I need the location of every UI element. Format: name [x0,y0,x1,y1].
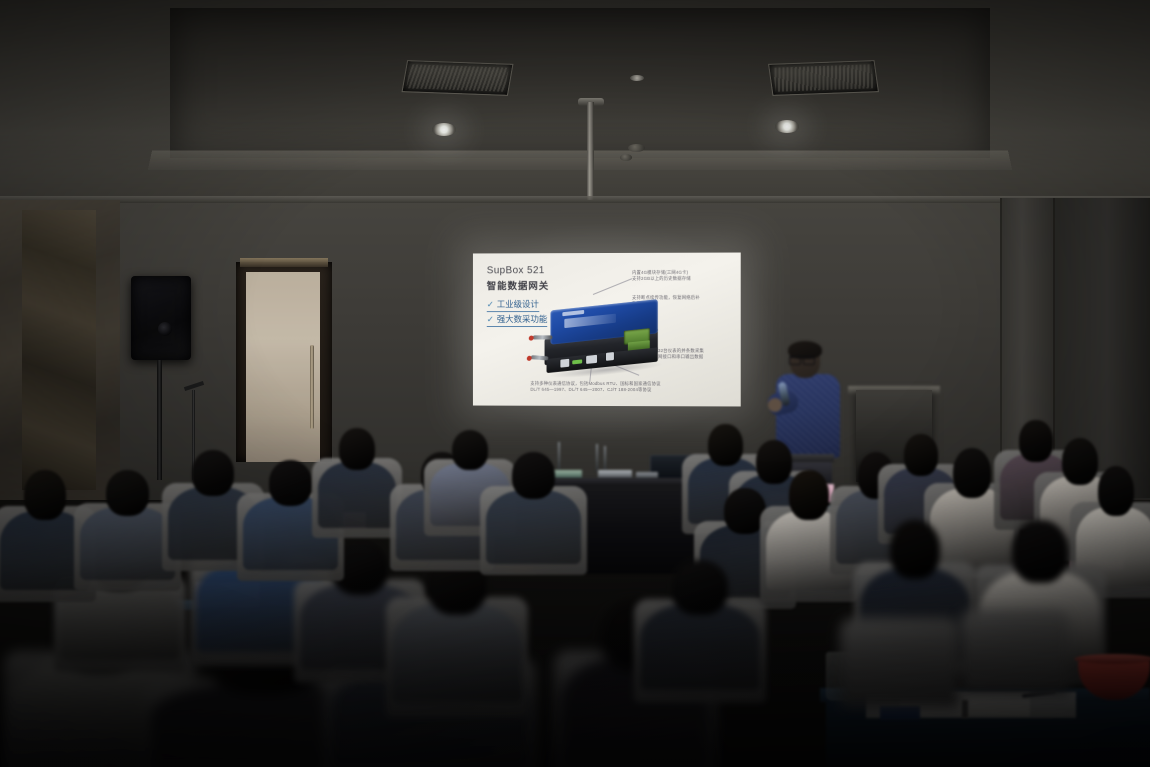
product-device-image [545,298,664,383]
slide-bullet-1-label: 工业级设计 [497,299,539,309]
slide-bullet-1: ✓工业级设计 [487,298,539,312]
audience-head [452,430,489,470]
chair [960,610,1070,694]
slide-bullet-2-label: 强大数采功能 [497,314,548,324]
slide-bullet-2: ✓强大数采功能 [487,313,548,327]
hvac-vent-right [768,60,879,96]
audience-member [486,452,581,564]
audience-head [1098,466,1135,516]
presenter-hand [768,398,782,412]
audience-shoulders [486,490,581,564]
hvac-vent-left [402,60,514,96]
conference-room-photo: SupBox 521 智能数据网关 ✓工业级设计 ✓强大数采功能 内置4G模块存… [0,0,1150,767]
sprinkler-head-icon [630,75,644,81]
slide-subtitle: 智能数据网关 [487,278,549,292]
audience-shoulders [392,603,522,702]
audience-member [80,470,175,580]
bowl-rim [1074,654,1150,664]
device-logo [562,310,584,316]
check-icon: ✓ [487,299,494,309]
blue-card-on-table [880,706,920,720]
ceiling-downlight-right [775,120,799,133]
device-port [606,352,614,361]
notebook-spine [962,700,968,718]
audience-member [640,560,760,690]
ceiling-downlight-left [432,123,456,136]
callout-leader-line [593,278,632,295]
audience-head [269,460,313,506]
device-label-print [564,314,616,328]
wall-trim [0,196,1150,203]
audience-head [192,450,233,496]
audience-head [890,520,941,579]
speaker-driver-icon [158,322,172,336]
ceiling-rim-molding [148,150,1012,169]
av-antenna [596,444,598,472]
audience-shoulders [318,462,396,528]
audience-head [1012,520,1067,583]
device-port [560,359,569,368]
marble-wall-panel [22,210,96,490]
device-antenna [531,355,549,360]
speaker-stand [157,360,162,480]
audience-head [672,560,727,615]
audience-head [953,448,992,498]
device-port [586,355,597,364]
device-antenna-tip [527,356,532,362]
glasses-icon [789,356,815,363]
projection-screen: SupBox 521 智能数据网关 ✓工业级设计 ✓强大数采功能 内置4G模块存… [473,253,741,407]
audience-head [339,428,375,470]
audience-head [512,452,556,499]
slide-callout-top: 内置4G模块存储(三网4G卡) 支持2GB以上的历史数据存储 [632,270,729,283]
audience-shoulders [640,604,760,690]
audience-shoulders [80,507,175,580]
smoke-detector-icon [620,154,632,161]
audience-member [318,428,396,528]
door-transom [240,258,328,267]
presentation-slide: SupBox 521 智能数据网关 ✓工业级设计 ✓强大数采功能 内置4G模块存… [473,253,741,407]
device-antenna [533,335,553,339]
slide-callout-bottom: 支持多种仪表通信协议，包括Modbus RTU、国标和国家通信协议 DL/T 6… [530,381,710,394]
audience-head [24,470,65,520]
check-icon: ✓ [487,314,494,324]
av-antenna [604,446,606,472]
door-panel[interactable] [246,272,320,462]
audience-head [789,470,829,520]
chair [840,618,960,708]
smoke-detector-icon [628,144,645,152]
pa-speaker [131,276,191,360]
slide-title: SupBox 521 [487,265,545,276]
audience-head [106,470,150,516]
device-antenna-tip [529,335,534,341]
door-handle[interactable] [310,345,314,429]
